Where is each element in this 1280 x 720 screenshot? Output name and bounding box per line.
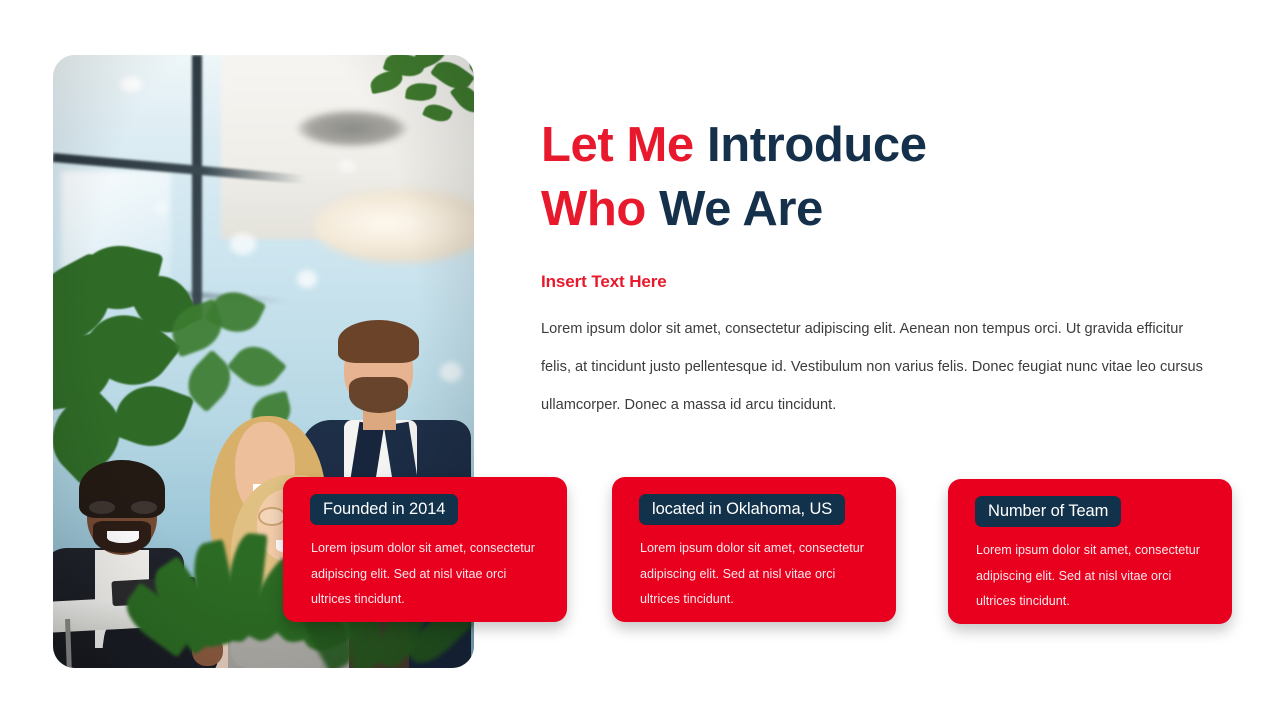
headline-line2-navy: We Are	[659, 182, 823, 236]
subheading: Insert Text Here	[541, 272, 667, 292]
body-paragraph: Lorem ipsum dolor sit amet, consectetur …	[541, 310, 1213, 424]
headline-line1-navy: Introduce	[707, 118, 927, 172]
headline-line2-red: Who	[541, 182, 659, 236]
info-card[interactable]: Number of Team Lorem ipsum dolor sit ame…	[948, 479, 1232, 624]
info-card[interactable]: Founded in 2014 Lorem ipsum dolor sit am…	[283, 477, 567, 622]
status-badge: Number of Team	[975, 496, 1121, 527]
info-card-text: Lorem ipsum dolor sit amet, consectetur …	[976, 538, 1208, 615]
headline-line1-red: Let Me	[541, 118, 707, 172]
info-card-text: Lorem ipsum dolor sit amet, consectetur …	[311, 536, 543, 613]
status-badge: located in Oklahoma, US	[639, 494, 845, 525]
info-card[interactable]: located in Oklahoma, US Lorem ipsum dolo…	[612, 477, 896, 622]
slide-canvas: Let Me Introduce Who We Are Insert Text …	[0, 0, 1280, 720]
status-badge: Founded in 2014	[310, 494, 458, 525]
page-title: Let Me Introduce Who We Are	[541, 113, 1241, 241]
info-card-text: Lorem ipsum dolor sit amet, consectetur …	[640, 536, 872, 613]
